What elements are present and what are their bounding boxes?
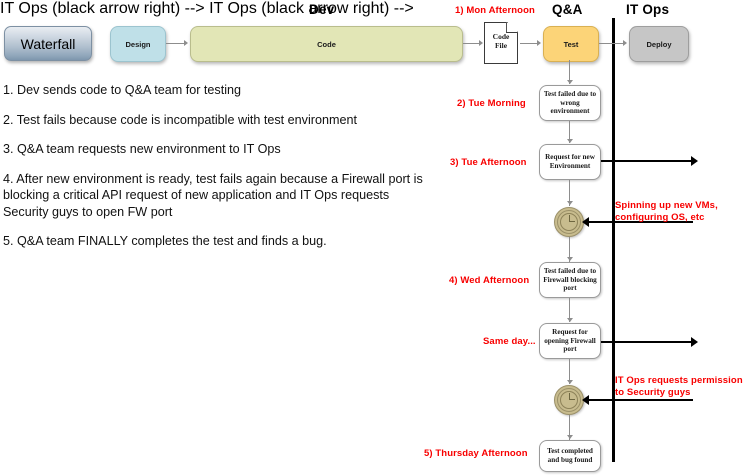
clock-hand-horizontal: [569, 399, 575, 400]
itops-note-security-permission: IT Ops requests permission to Security g…: [615, 375, 743, 398]
time-label-thursday-afternoon: 5) Thursday Afternoon: [424, 448, 528, 459]
node-test-failed-firewall[interactable]: Test failed due to Firewall blocking por…: [539, 262, 601, 298]
arrowhead-box1-box2: [567, 139, 573, 143]
arrowhead-request-env-to-itops: [691, 156, 698, 166]
arrowhead-box2-delay1: [567, 201, 573, 205]
node-design[interactable]: Design: [110, 26, 166, 62]
narrative-step-3: 3. Q&A team requests new environment to …: [3, 141, 433, 158]
itops-note-spinning-vms-line1: Spinning up new VMs,: [615, 200, 718, 212]
lane-divider-upper: [612, 18, 615, 80]
clock-hand-horizontal: [569, 221, 575, 222]
narrative-step-1: 1. Dev sends code to Q&A team for testin…: [3, 82, 433, 99]
arrowhead-delay1-box3: [567, 257, 573, 261]
connector-test-deploy: [599, 43, 625, 44]
clock-icon-delay-2: [554, 385, 584, 415]
lane-divider-lower: [612, 80, 615, 462]
time-label-tue-morning: 2) Tue Morning: [457, 98, 526, 109]
itops-note-spinning-vms-line2: configuring OS, etc: [615, 212, 718, 224]
time-label-wed-afternoon: 4) Wed Afternoon: [449, 275, 529, 286]
narrative-step-5: 5. Q&A team FINALLY completes the test a…: [3, 233, 433, 250]
narrative-step-4: 4. After new environment is ready, test …: [3, 171, 433, 221]
arrowhead-delay2-box5: [567, 435, 573, 439]
arrowhead-test-box1: [567, 80, 573, 84]
connector-design-code: [166, 43, 186, 44]
connector-itops-to-delay2: [586, 399, 693, 401]
code-file-label-line2: File: [484, 41, 518, 50]
connector-request-fw-to-itops: [601, 341, 693, 343]
node-test-completed[interactable]: Test completed and bug found: [539, 440, 601, 472]
code-file-label-line1: Code: [484, 32, 518, 41]
time-label-tue-afternoon: 3) Tue Afternoon: [450, 157, 527, 168]
node-request-open-fw-port[interactable]: Request for opening Firewall port: [539, 323, 601, 359]
lane-title-itops: IT Ops: [626, 2, 669, 17]
node-code-file[interactable]: Code File: [484, 22, 518, 64]
arrowhead-itops-to-delay1: [582, 217, 589, 227]
node-test-failed-wrong-env[interactable]: Test failed due to wrong environment: [539, 85, 601, 121]
node-code[interactable]: Code: [190, 26, 463, 62]
diagram-canvas: Dev Q&A IT Ops Waterfall Design Code Cod…: [0, 0, 750, 475]
time-label-same-day: Same day...: [483, 336, 536, 347]
narrative-step-list: 1. Dev sends code to Q&A team for testin…: [3, 82, 433, 263]
lane-title-qa: Q&A: [552, 2, 583, 17]
arrowhead-request-fw-to-itops: [691, 337, 698, 347]
itops-note-security-permission-line1: IT Ops requests permission: [615, 375, 743, 387]
arrowhead-itops-to-delay2: [582, 395, 589, 405]
arrowhead-test-deploy: [623, 40, 627, 46]
clock-icon-delay-1: [554, 207, 584, 237]
arrowhead-box4-delay2: [567, 380, 573, 384]
arrowhead-box3-box4: [567, 318, 573, 322]
lane-title-dev: Dev: [309, 2, 334, 17]
arrowhead-code-codefile: [479, 40, 483, 46]
time-label-mon-afternoon: 1) Mon Afternoon: [455, 5, 535, 16]
waterfall-badge: Waterfall: [4, 26, 92, 61]
code-file-label: Code File: [484, 32, 518, 50]
node-test[interactable]: Test: [543, 26, 599, 62]
itops-note-spinning-vms: Spinning up new VMs, configuring OS, etc: [615, 200, 718, 223]
connector-request-env-to-itops: [601, 160, 693, 162]
arrowhead-codefile-test: [537, 40, 541, 46]
arrowhead-design-code: [184, 40, 188, 46]
itops-note-security-permission-line2: to Security guys: [615, 387, 743, 399]
narrative-step-2: 2. Test fails because code is incompatib…: [3, 112, 433, 129]
node-request-new-env[interactable]: Request for new Environment: [539, 144, 601, 180]
node-deploy[interactable]: Deploy: [629, 26, 689, 62]
